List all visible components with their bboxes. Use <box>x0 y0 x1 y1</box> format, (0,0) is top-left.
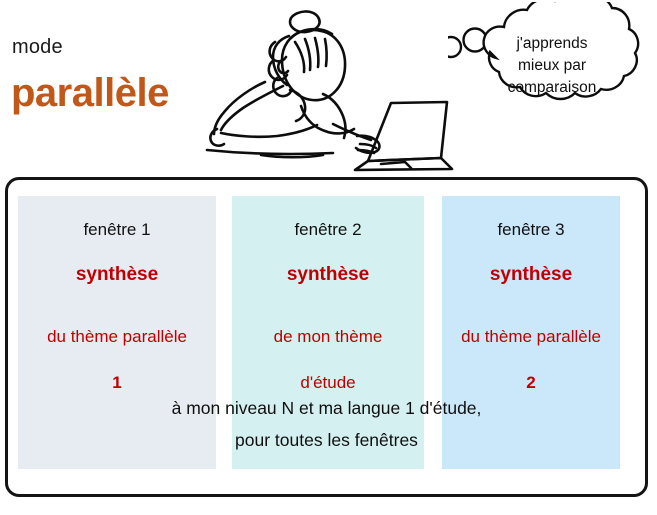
window-detail: du thème parallèle 2 <box>442 303 620 395</box>
window-detail-number: 1 <box>112 373 121 392</box>
window-label: fenêtre 2 <box>232 220 424 240</box>
synthese-label: synthèse <box>18 264 216 287</box>
window-column-3[interactable]: fenêtre 3 synthèse du thème parallèle 2 <box>442 196 620 469</box>
window-column-2[interactable]: fenêtre 2 synthèse de mon thème d'étude <box>232 196 424 469</box>
synthese-label: synthèse <box>232 264 424 287</box>
synthese-label: synthèse <box>442 264 620 287</box>
window-columns: fenêtre 1 synthèse du thème parallèle 1 … <box>5 177 648 497</box>
window-detail-line: de mon thème <box>274 327 383 346</box>
window-label: fenêtre 3 <box>442 220 620 240</box>
window-column-1[interactable]: fenêtre 1 synthèse du thème parallèle 1 <box>18 196 216 469</box>
window-detail-number: d'étude <box>300 373 355 392</box>
window-detail-number: 2 <box>526 373 535 392</box>
window-detail: de mon thème d'étude <box>232 303 424 395</box>
mode-label: mode <box>12 36 63 59</box>
window-detail: du thème parallèle 1 <box>18 303 216 395</box>
student-at-laptop-illustration <box>205 0 455 176</box>
page-title: parallèle <box>11 72 169 114</box>
window-detail-line: du thème parallèle <box>47 327 187 346</box>
window-detail-line: du thème parallèle <box>461 327 601 346</box>
thought-bubble-text: j'apprends mieux par comparaison <box>472 33 632 99</box>
header-area: mode parallèle <box>0 0 657 177</box>
window-label: fenêtre 1 <box>18 220 216 240</box>
